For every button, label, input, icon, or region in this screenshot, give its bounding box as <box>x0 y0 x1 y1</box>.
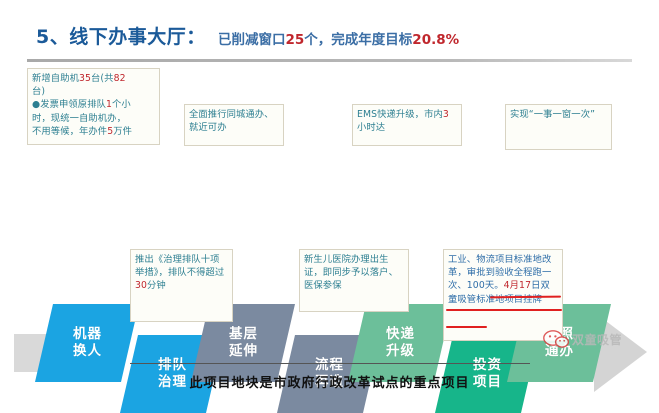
callout-standard-land-reform: 工业、物流项目标准地改革，审批到验收全程跑一次、100天。4月17日双童吸管标准… <box>443 249 563 341</box>
footer-divider <box>130 363 530 364</box>
header-subtitle: 已削减窗口25个，完成年度目标20.8% <box>218 28 459 48</box>
red-underline-annotation <box>446 326 487 328</box>
callout-line: ●发票申领原排队1个小 <box>32 98 155 111</box>
callout-line: 时，现统一自助机办， <box>32 112 155 125</box>
process-step-label: 机器换人 <box>73 326 102 360</box>
red-underline-annotation <box>490 296 561 299</box>
watermark: 双童吸管 <box>543 330 622 349</box>
page-title: 5、线下办事大厅： <box>36 22 206 49</box>
watermark-label: 双童吸管 <box>572 331 622 348</box>
process-step-express-upgrade[interactable]: 快递升级 <box>348 304 452 382</box>
header-subtitle-number-2: 20.8% <box>412 32 459 48</box>
process-flow-band: 机器换人 排队治理 基层延伸 流程再造 快递升级 投资项目 证照通办 <box>0 150 659 250</box>
footer-caption: 此项目地块是市政府行政改革试点的重点项目 <box>0 372 659 391</box>
callout-queue-measures: 推出《治理排队十项举措》，排队不得超过30分钟 <box>130 249 233 322</box>
red-underline-annotation <box>446 309 562 311</box>
callout-line: 台) <box>32 85 155 98</box>
process-step-robot[interactable]: 机器换人 <box>35 304 139 382</box>
slide-header: 5、线下办事大厅： 已削减窗口25个，完成年度目标20.8% <box>0 12 659 52</box>
callout-newborn-certificate: 新生儿医院办理出生证，即同步予以落户、医保参保 <box>299 249 409 312</box>
header-divider <box>27 59 632 62</box>
callout-citywide-service: 全面推行同城通办、就近可办 <box>184 104 284 146</box>
callout-line: 新增自助机35台(共82 <box>32 72 155 85</box>
wechat-logo-icon <box>543 330 569 349</box>
callout-ems-upgrade: EMS快递升级，市内3小时达 <box>352 104 462 146</box>
header-subtitle-number-1: 25 <box>286 32 305 48</box>
callout-robot-replacement: 新增自助机35台(共82 台) ●发票申领原排队1个小 时，现统一自助机办， 不… <box>27 68 160 145</box>
header-subtitle-pre: 已削减窗口 <box>218 32 286 48</box>
header-subtitle-mid: 个，完成年度目标 <box>304 32 412 48</box>
process-step-label: 快递升级 <box>386 326 415 360</box>
callout-line: 不用等候，年办件5万件 <box>32 125 155 138</box>
process-step-label: 基层延伸 <box>229 326 258 360</box>
callout-one-window: 实现“一事一窗一次” <box>505 104 612 150</box>
slide-canvas: 5、线下办事大厅： 已削减窗口25个，完成年度目标20.8% 新增自助机35台(… <box>0 0 659 400</box>
